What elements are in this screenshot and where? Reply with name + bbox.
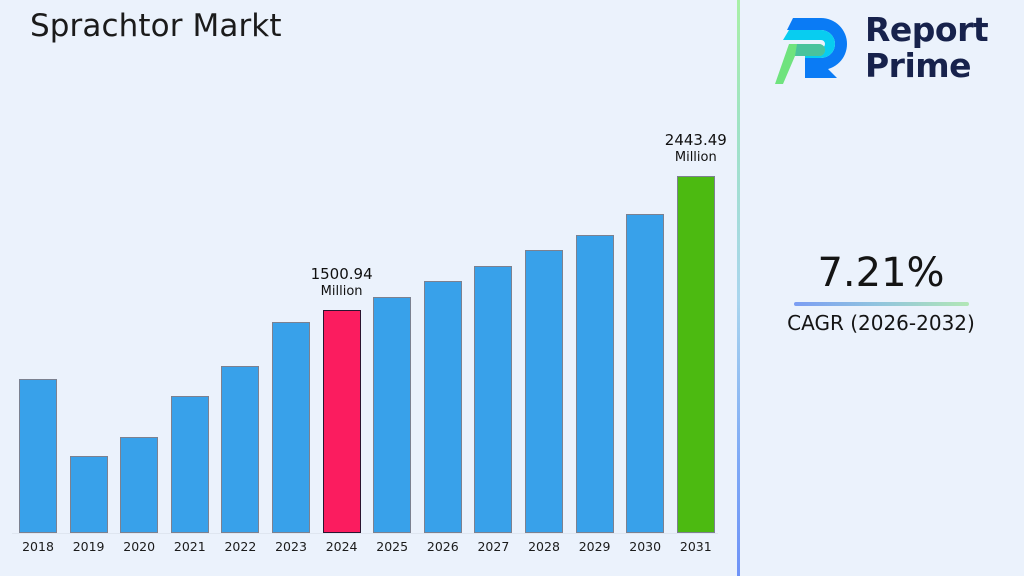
bar-2020[interactable] bbox=[120, 437, 158, 533]
bar-chart: 2018201920202021202220232024202520262027… bbox=[0, 0, 737, 576]
brand-name-line2: Prime bbox=[865, 48, 988, 84]
x-axis-line bbox=[12, 533, 718, 534]
bar-2023[interactable] bbox=[272, 322, 310, 533]
bar-2028[interactable] bbox=[525, 250, 563, 533]
brand-logo: Report Prime bbox=[775, 10, 1015, 92]
x-tick-2031: 2031 bbox=[666, 539, 726, 554]
brand-name-line1: Report bbox=[865, 12, 988, 48]
cagr-block: 7.21% CAGR (2026-2032) bbox=[738, 250, 1024, 336]
bar-2018[interactable] bbox=[19, 379, 57, 533]
data-label-2031: 2443.49Million bbox=[636, 132, 756, 165]
data-label-unit-2024: Million bbox=[282, 285, 402, 300]
brand-name: Report Prime bbox=[865, 12, 988, 84]
bar-2021[interactable] bbox=[171, 396, 209, 533]
data-label-value-2031: 2443.49 bbox=[636, 132, 756, 149]
data-label-value-2024: 1500.94 bbox=[282, 266, 402, 283]
bar-2019[interactable] bbox=[70, 456, 108, 533]
bar-2031[interactable] bbox=[677, 176, 715, 533]
bar-2022[interactable] bbox=[221, 366, 259, 533]
bar-2024[interactable] bbox=[323, 310, 361, 533]
bar-2027[interactable] bbox=[474, 266, 512, 533]
chart-screenshot: Sprachtor Markt Report Prime 7.21% CAGR … bbox=[0, 0, 1024, 576]
data-label-unit-2031: Million bbox=[636, 151, 756, 166]
bar-2025[interactable] bbox=[373, 297, 411, 533]
bar-2030[interactable] bbox=[626, 214, 664, 533]
data-label-2024: 1500.94Million bbox=[282, 266, 402, 299]
cagr-value: 7.21% bbox=[738, 250, 1024, 296]
cagr-label: CAGR (2026-2032) bbox=[738, 310, 1024, 336]
bar-2026[interactable] bbox=[424, 281, 462, 533]
report-prime-logo-icon bbox=[775, 14, 853, 88]
cagr-divider-rule bbox=[794, 302, 969, 306]
bar-2029[interactable] bbox=[576, 235, 614, 533]
